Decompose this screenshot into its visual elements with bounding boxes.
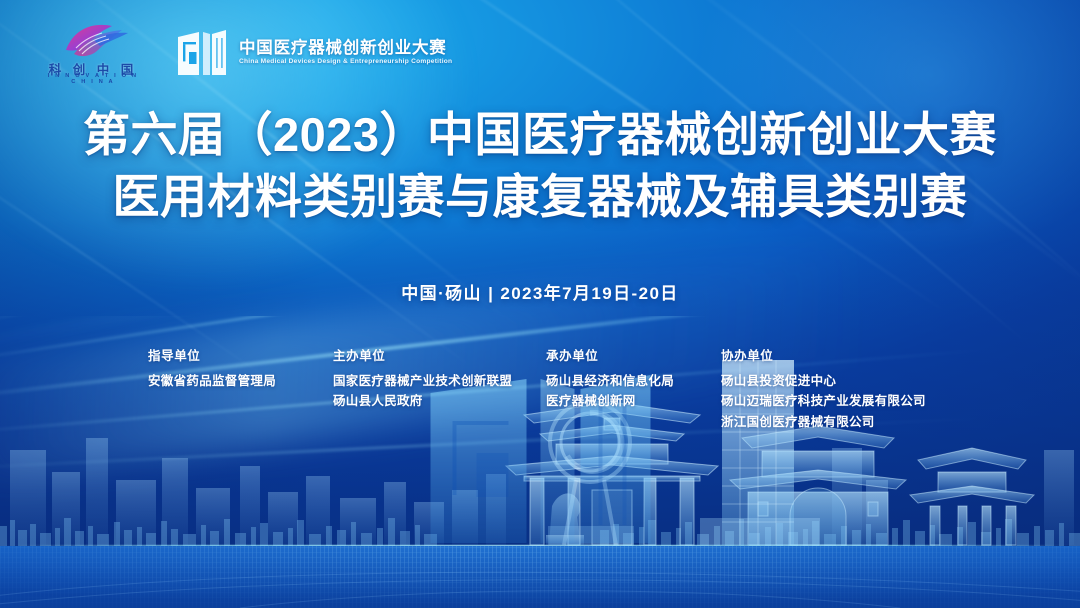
organizer-item: 砀山县投资促进中心 [721,371,978,391]
organizer-item: 安徽省药品监督管理局 [148,371,333,391]
competition-en-title: China Medical Devices Design & Entrepren… [239,59,452,66]
competition-cn-title: 中国医疗器械创新创业大赛 [239,40,452,57]
far-buildings-left [10,438,444,545]
main-title-block: 第六届（2023）中国医疗器械创新创业大赛 医用材料类别赛与康复器械及辅具类别赛 [0,104,1080,228]
organizer-item: 浙江国创医疗器械有限公司 [721,412,978,432]
logo-kechuang-zhongguo: 科 创 中 国 I N N O V A T I O N C H I N A [44,22,142,84]
organizer-column-coorganizer: 协办单位 砀山县投资促进中心 砀山迈瑞医疗科技产业发展有限公司 浙江国创医疗器械… [721,345,978,432]
organizer-label: 承办单位 [546,345,721,364]
conference-banner: 科 创 中 国 I N N O V A T I O N C H I N A 中国… [0,0,1080,608]
organizer-item: 砀山迈瑞医疗科技产业发展有限公司 [721,391,978,411]
phoenix-dna-mark [60,20,130,60]
location-date-line: 中国·砀山 | 2023年7月19日-20日 [0,279,1080,304]
organizer-label: 协办单位 [721,345,978,364]
traditional-pavilion [910,448,1034,545]
kechuang-en-text: I N N O V A T I O N C H I N A [44,73,142,85]
logo-competition: 中国医疗器械创新创业大赛 China Medical Devices Desig… [176,28,452,78]
competition-logo-text: 中国医疗器械创新创业大赛 China Medical Devices Desig… [239,40,452,65]
open-door-logo [176,28,228,78]
organizer-item: 医疗器械创新网 [546,391,721,411]
organizer-column-host: 主办单位 国家医疗器械产业技术创新联盟 砀山县人民政府 [333,345,546,432]
organizer-label: 主办单位 [333,345,546,364]
organizer-columns: 指导单位 安徽省药品监督管理局 主办单位 国家医疗器械产业技术创新联盟 砀山县人… [148,345,978,432]
organizer-item: 砀山县经济和信息化局 [546,371,721,391]
organizer-column-guidance: 指导单位 安徽省药品监督管理局 [148,345,333,432]
organizer-column-undertaker: 承办单位 砀山县经济和信息化局 医疗器械创新网 [546,345,721,432]
organizer-label: 指导单位 [148,345,333,364]
title-line-2: 医用材料类别赛与康复器械及辅具类别赛 [0,166,1080,228]
logo-bar: 科 创 中 国 I N N O V A T I O N C H I N A 中国… [44,22,452,84]
organizer-item: 国家医疗器械产业技术创新联盟 [333,371,546,391]
organizer-item: 砀山县人民政府 [333,391,546,411]
title-line-1: 第六届（2023）中国医疗器械创新创业大赛 [0,104,1080,166]
ground-arc-lines [0,546,1080,608]
